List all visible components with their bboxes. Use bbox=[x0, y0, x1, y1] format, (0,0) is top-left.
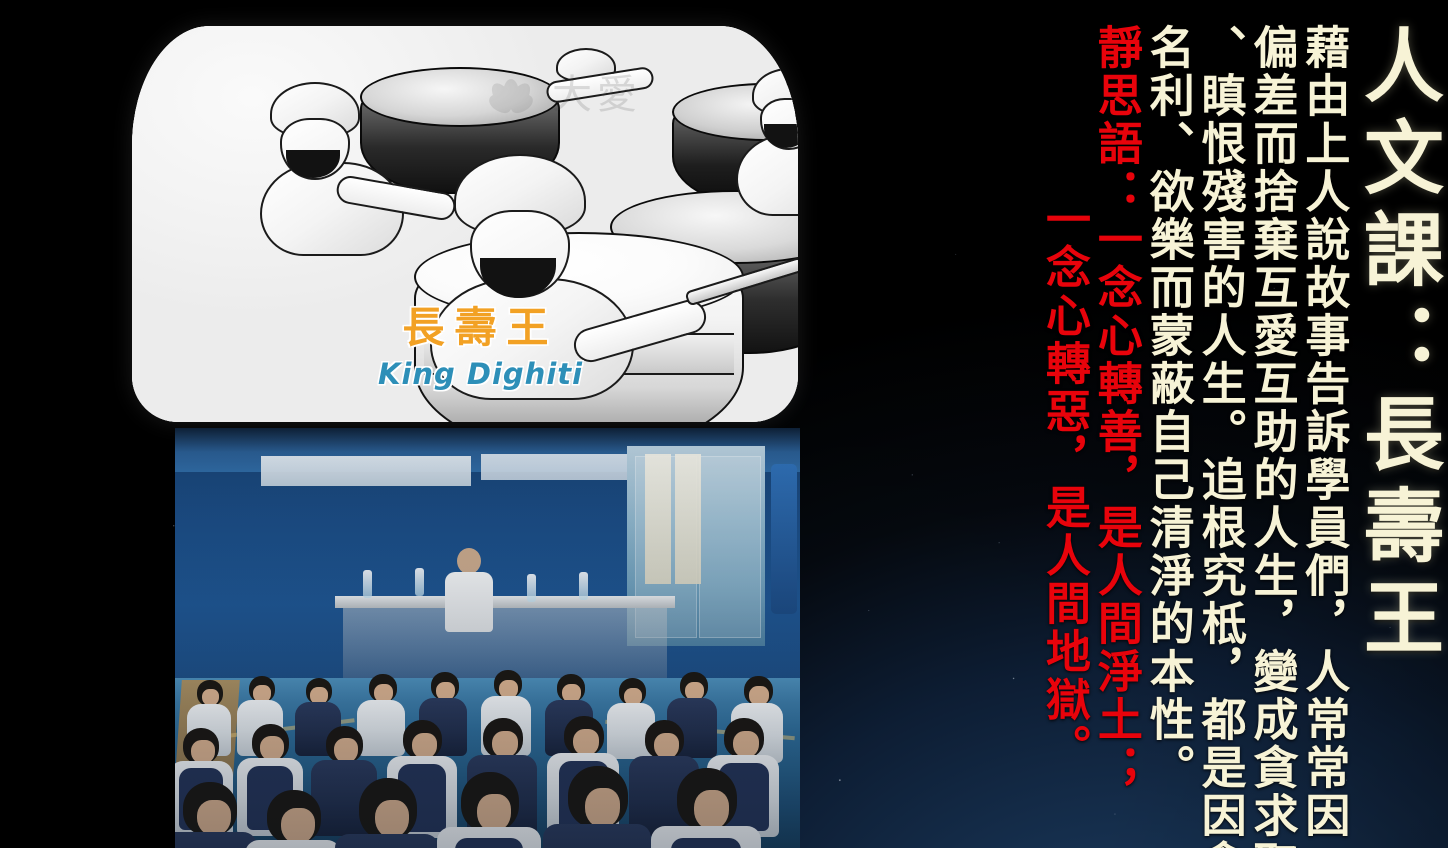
watermark-label: 大愛 bbox=[552, 62, 642, 120]
classroom-photo bbox=[175, 428, 800, 848]
illustration-caption: 長壽王 King Dighiti bbox=[378, 294, 583, 391]
body-column-4: 名利、欲樂而蒙蔽自己清淨的本性。 bbox=[1145, 0, 1191, 792]
caption-english: King Dighiti bbox=[378, 357, 583, 391]
slide-title: 人文課：長壽王 bbox=[1356, 0, 1438, 668]
daai-watermark: 大愛 bbox=[482, 54, 702, 128]
body-column-2: 偏差而捨棄互愛互助的人生，變成貪求取奪 bbox=[1249, 0, 1295, 848]
presentation-slide: 大愛 長壽王 King Dighiti bbox=[0, 0, 1448, 848]
quote-column-1: 靜思語：一念心轉善，是人間淨土； bbox=[1093, 0, 1139, 792]
body-column-1: 藉由上人說故事告訴學員們，人常常因一念 bbox=[1301, 0, 1347, 848]
caption-chinese: 長壽王 bbox=[378, 294, 583, 355]
quote-column-2: 一念心轉惡，是人間地獄。 bbox=[1041, 0, 1087, 772]
photo-color-tint bbox=[175, 428, 800, 848]
lotus-logo-icon bbox=[482, 69, 540, 113]
illustration-panel: 大愛 長壽王 King Dighiti bbox=[132, 26, 798, 422]
body-column-3: 、瞋恨殘害的人生。追根究柢，都是因貪求 bbox=[1197, 0, 1243, 848]
drummer-figure-icon bbox=[728, 68, 798, 218]
vertical-text-block: 一念心轉惡，是人間地獄。 靜思語：一念心轉善，是人間淨土； 名利、欲樂而蒙蔽自己… bbox=[1035, 0, 1438, 848]
